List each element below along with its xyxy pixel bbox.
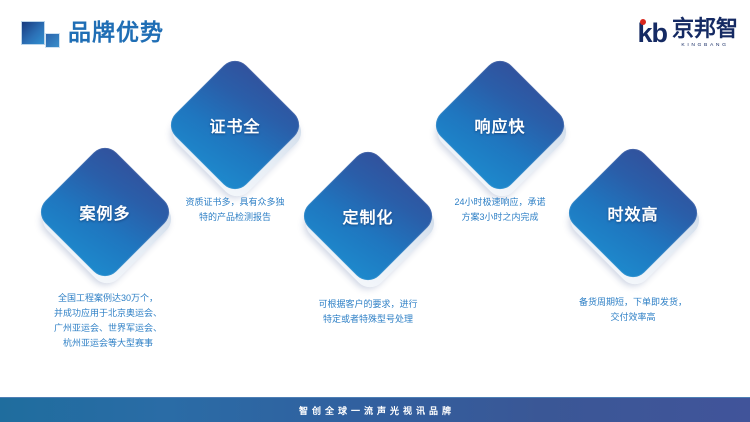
advantage-desc-3: 可根据客户的要求，进行特定或者特殊型号处理 [283, 297, 453, 327]
page-title: 品牌优势 [68, 17, 164, 47]
logo-chinese-block: 京邦智 KINGBANG [672, 18, 738, 49]
diamond-shape-5[interactable]: 时效高 [583, 163, 683, 263]
diamond-label-2: 证书全 [185, 75, 285, 175]
advantage-desc-2: 资质证书多，具有众多独特的产品检测报告 [150, 195, 320, 225]
logo-chinese-name: 京邦智 [672, 18, 738, 40]
diamond-shape-1[interactable]: 案例多 [55, 162, 155, 262]
diamond-label-5: 时效高 [583, 163, 683, 263]
footer-slogan: 智创全球一流声光视讯品牌 [295, 404, 455, 417]
square-decor-small-icon [45, 33, 60, 48]
diamond-shape-4[interactable]: 响应快 [450, 75, 550, 175]
diamond-label-4: 响应快 [450, 75, 550, 175]
square-decor-large-icon [21, 21, 45, 45]
diamond-label-3: 定制化 [318, 166, 418, 266]
advantage-desc-5: 备货周期短，下单即发货，交付效率高 [548, 295, 718, 325]
brand-logo: kb 京邦智 KINGBANG [637, 17, 738, 49]
advantage-desc-1: 全国工程案例达30万个，并成功应用于北京奥运会、广州亚运会、世界军运会、杭州亚运… [13, 291, 203, 351]
slide-header: 品牌优势 kb 京邦智 KINGBANG [0, 0, 750, 62]
slide-footer: 智创全球一流声光视讯品牌 [0, 397, 750, 422]
logo-latin-mark: kb [637, 20, 667, 47]
diamond-label-1: 案例多 [55, 162, 155, 262]
logo-pinyin: KINGBANG [681, 41, 728, 48]
slide-root: 品牌优势 kb 京邦智 KINGBANG 案例多 全国工程案例达30万个，并成功… [0, 0, 750, 422]
advantage-desc-4: 24小时极速响应，承诺方案3小时之内完成 [415, 195, 585, 225]
diamond-shape-2[interactable]: 证书全 [185, 75, 285, 175]
diamond-shape-3[interactable]: 定制化 [318, 166, 418, 266]
